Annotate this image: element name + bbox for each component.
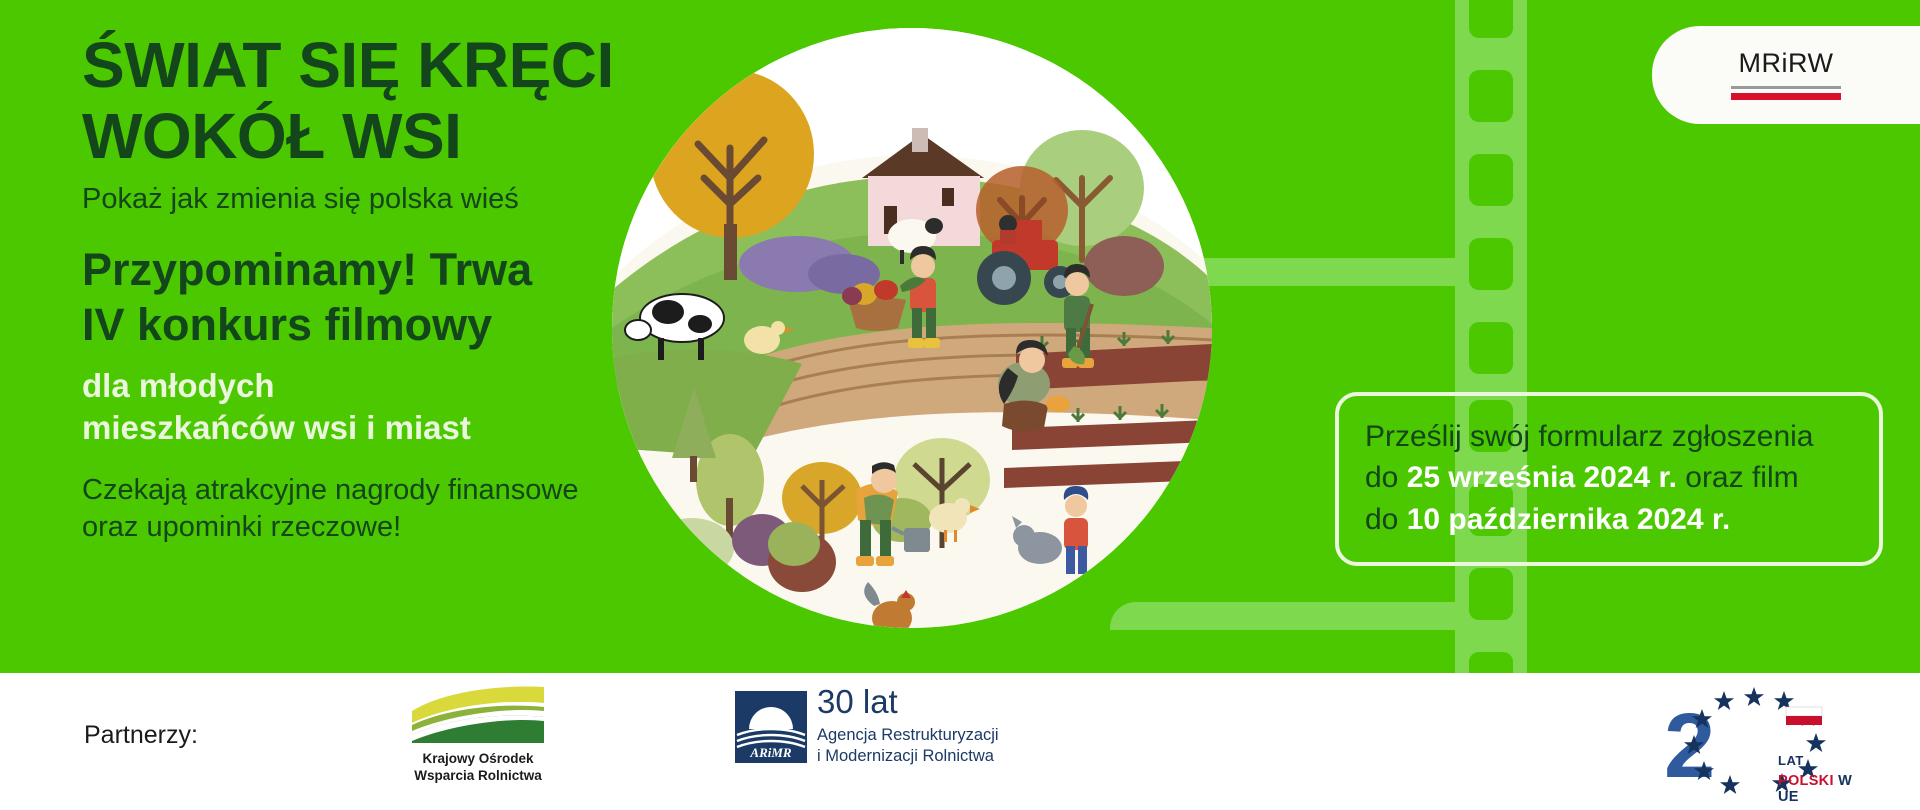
deadline-callout-box: Prześlij swój formularz zgłoszenia do 25… (1335, 392, 1883, 566)
callout-date-form: 25 września 2024 r. (1407, 461, 1677, 494)
main-green-panel: ŚWIAT SIĘ KRĘCI WOKÓŁ WSI Pokaż jak zmie… (0, 0, 1920, 673)
page-title: ŚWIAT SIĘ KRĘCI WOKÓŁ WSI (82, 34, 722, 167)
callout-line-3-prefix: do (1365, 503, 1407, 536)
callout-date-film: 10 października 2024 r. (1407, 503, 1731, 536)
eu-polski-word: POLSKI (1778, 773, 1834, 789)
mrirw-logo: MRiRW (1652, 26, 1920, 124)
prizes-line-1: Czekają atrakcyjne nagrody finansowe (82, 474, 579, 506)
audience-heading: dla młodych mieszkańców wsi i miast (82, 365, 722, 451)
arimr-mark-text: ARiMR (749, 745, 792, 760)
kowr-logo: Krajowy Ośrodek Wsparcia Rolnictwa (408, 685, 548, 795)
announcement-heading: Przypominamy! Trwa IV konkurs filmowy (82, 243, 722, 353)
mrirw-logo-text: MRiRW (1739, 50, 1834, 77)
eu-polski-text: POLSKI W UE (1778, 773, 1876, 805)
headline-copy-block: ŚWIAT SIĘ KRĘCI WOKÓŁ WSI Pokaż jak zmie… (82, 34, 722, 547)
partners-footer: Partnerzy: Krajowy Ośrodek Wsparcia Roln… (0, 673, 1920, 810)
announcement-line-2: IV konkurs filmowy (82, 299, 492, 350)
headline-line-2: WOKÓŁ WSI (82, 105, 722, 168)
arimr-years: 30 lat (817, 685, 898, 718)
arimr-name: Agencja Restrukturyzacji i Modernizacji … (817, 725, 999, 767)
prizes-line-2: oraz upominki rzeczowe! (82, 511, 401, 543)
arimr-line-1: Agencja Restrukturyzacji (817, 726, 999, 744)
callout-line-2: do 25 września 2024 r. oraz film (1365, 457, 1853, 498)
headline-line-1: ŚWIAT SIĘ KRĘCI (82, 29, 614, 101)
callout-line-2-suffix: oraz film (1677, 461, 1799, 494)
prizes-text: Czekają atrakcyjne nagrody finansowe ora… (82, 472, 722, 546)
kowr-logo-text: Krajowy Ośrodek Wsparcia Rolnictwa (408, 751, 548, 785)
kowr-line-2: Wsparcia Rolnictwa (414, 768, 542, 783)
poster-banner: ŚWIAT SIĘ KRĘCI WOKÓŁ WSI Pokaż jak zmie… (0, 0, 1920, 810)
arimr-line-2: i Modernizacji Rolnictwa (817, 747, 994, 765)
audience-line-1: dla młodych (82, 367, 275, 404)
eu-20-years-logo: 2 LAT POLSKI W UE (1658, 681, 1876, 801)
callout-line-2-prefix: do (1365, 461, 1407, 494)
mrirw-gray-bar (1731, 86, 1841, 89)
arimr-logo-mark: ARiMR (735, 691, 807, 763)
audience-line-2: mieszkańców wsi i miast (82, 409, 471, 446)
partners-label: Partnerzy: (84, 721, 198, 750)
kowr-line-1: Krajowy Ośrodek (422, 751, 533, 766)
arimr-logo: ARiMR 30 lat Agencja Restrukturyzacji i … (735, 689, 1035, 793)
eu-lat-text: LAT (1778, 753, 1804, 768)
announcement-line-1: Przypominamy! Trwa (82, 244, 532, 295)
callout-line-1: Prześlij swój formularz zgłoszenia (1365, 416, 1853, 457)
mrirw-red-bar (1731, 93, 1841, 100)
subtitle-text: Pokaż jak zmienia się polska wieś (82, 183, 722, 216)
kowr-logo-mark (408, 685, 548, 749)
callout-line-3: do 10 października 2024 r. (1365, 499, 1853, 540)
